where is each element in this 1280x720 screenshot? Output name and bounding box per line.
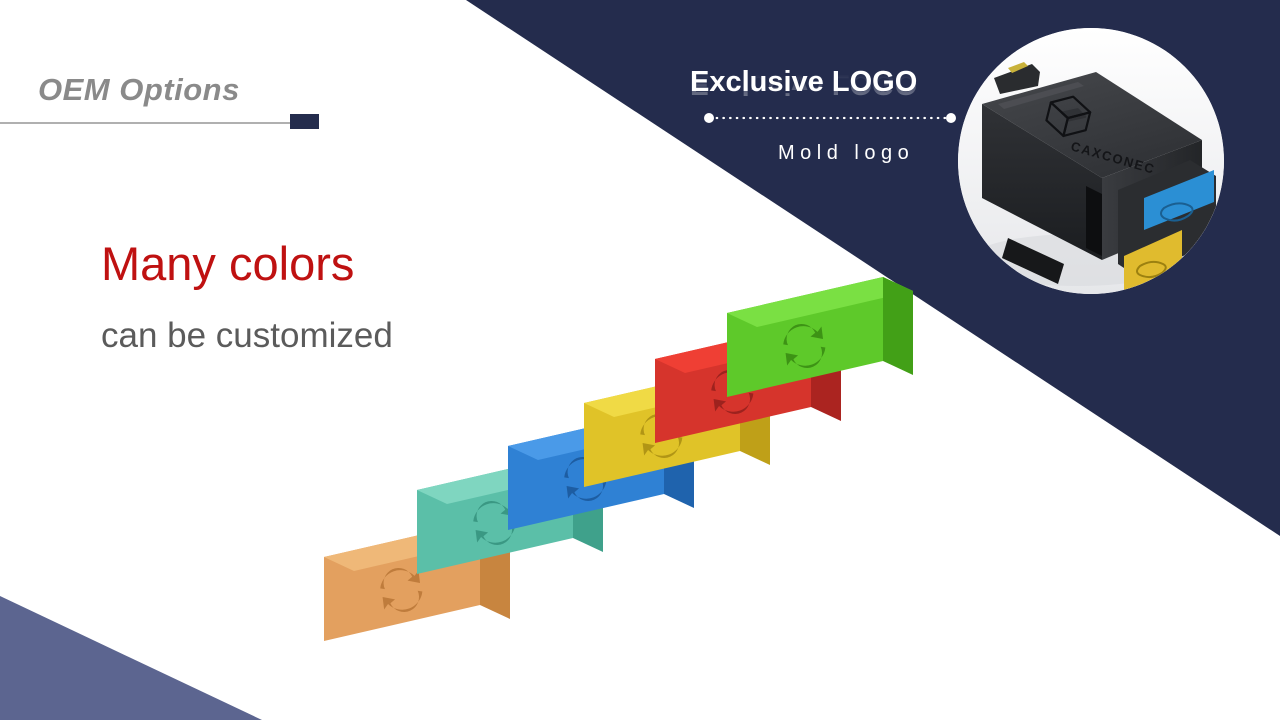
slide-canvas: OEM Options Many colors can be customize… <box>0 0 1280 720</box>
color-block-array <box>0 0 1280 720</box>
block-side-face <box>883 277 913 375</box>
